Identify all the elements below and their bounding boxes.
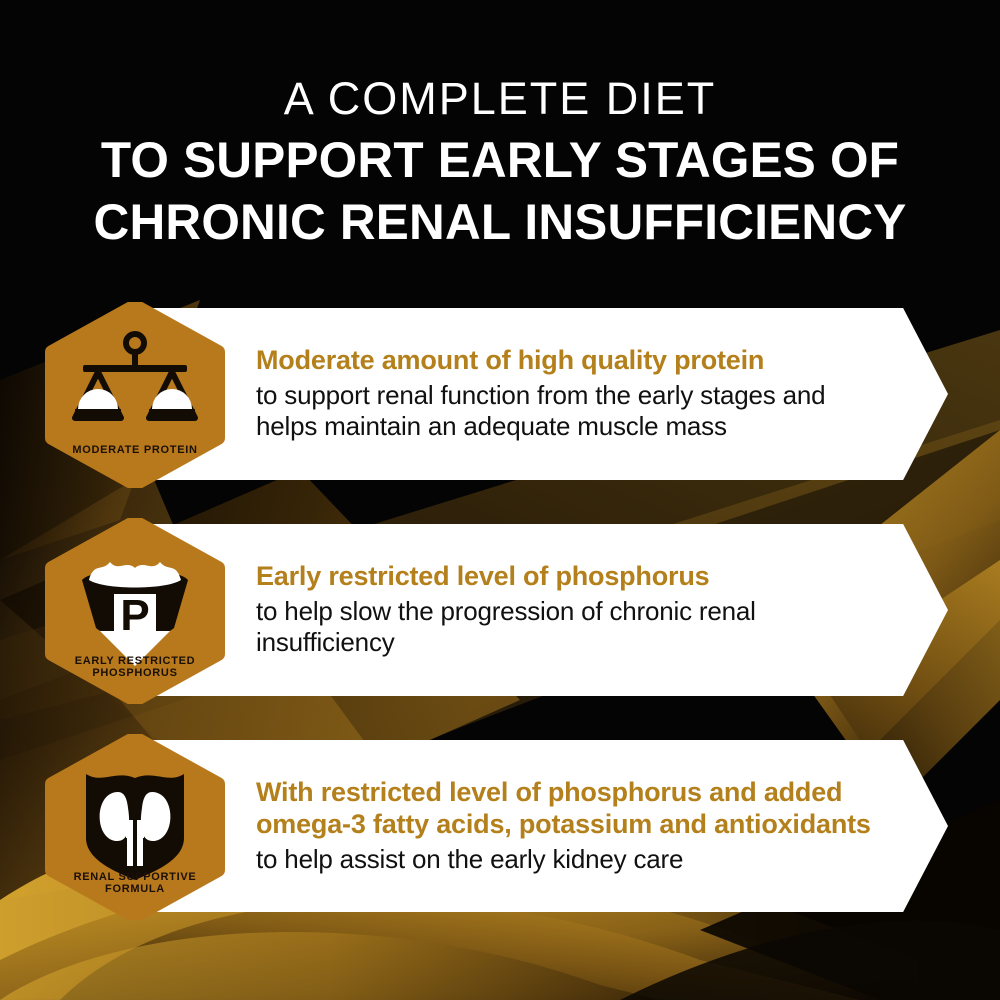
badge-caption: MODERATE PROTEIN: [42, 444, 228, 457]
badge-caption: EARLY RESTRICTED PHOSPHORUS: [42, 655, 228, 680]
feature-banner: With restricted level of phosphorus and …: [132, 740, 948, 912]
feature-row-early-restricted-phosphorus: Early restricted level of phosphorus to …: [0, 524, 1000, 696]
infographic-poster: A COMPLETE DIET TO SUPPORT EARLY STAGES …: [0, 0, 1000, 1000]
bottom-gold-divider: [178, 958, 822, 961]
feature-heading: Moderate amount of high quality protein: [256, 345, 878, 377]
svg-text:P: P: [120, 591, 149, 640]
feature-banner: Moderate amount of high quality protein …: [132, 308, 948, 480]
feature-body: to support renal function from the early…: [256, 380, 878, 442]
feature-body: to help slow the progression of chronic …: [256, 596, 878, 658]
badge-early-restricted-phosphorus: P EARLY RESTRICTED PHOSPHORUS: [42, 518, 228, 704]
feature-row-moderate-protein: Moderate amount of high quality protein …: [0, 308, 1000, 480]
feature-heading: With restricted level of phosphorus and …: [256, 777, 878, 841]
badge-caption: RENAL SUPPORTIVE FORMULA: [42, 871, 228, 896]
feature-row-renal-supportive-formula: With restricted level of phosphorus and …: [0, 740, 1000, 912]
page-title: A COMPLETE DIET TO SUPPORT EARLY STAGES …: [0, 76, 1000, 259]
headline-line-3: CHRONIC RENAL INSUFFICIENCY: [5, 197, 995, 247]
badge-moderate-protein: MODERATE PROTEIN: [42, 302, 228, 488]
top-gold-divider: [178, 45, 822, 48]
headline-line-2: TO SUPPORT EARLY STAGES OF: [5, 135, 995, 185]
badge-renal-supportive-formula: RENAL SUPPORTIVE FORMULA: [42, 734, 228, 920]
feature-heading: Early restricted level of phosphorus: [256, 561, 878, 593]
feature-body: to help assist on the early kidney care: [256, 844, 878, 875]
headline-line-1: A COMPLETE DIET: [0, 76, 1000, 121]
feature-banner: Early restricted level of phosphorus to …: [132, 524, 948, 696]
feature-list: Moderate amount of high quality protein …: [0, 308, 1000, 956]
